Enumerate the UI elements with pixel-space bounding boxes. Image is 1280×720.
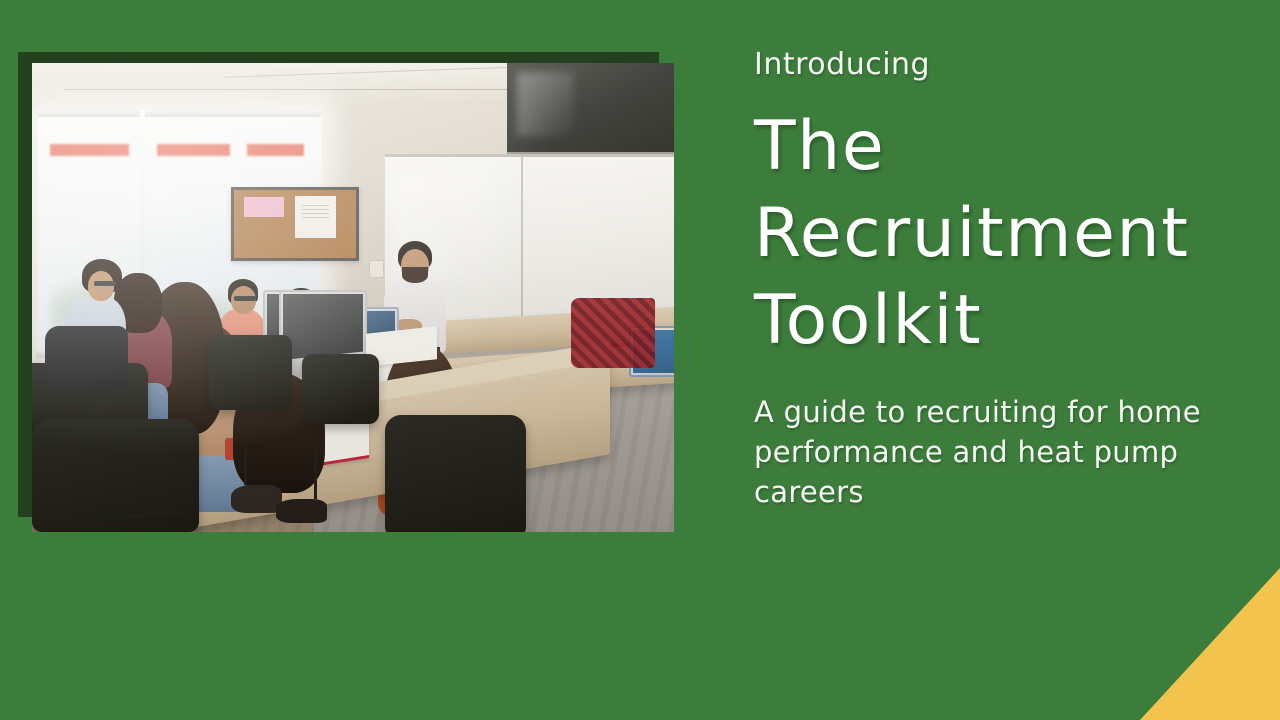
photo-instructor-beard (402, 267, 428, 283)
photo-chair-leg (314, 448, 317, 500)
page-title: The Recruitment Toolkit (754, 103, 1254, 364)
text-column: Introducing The Recruitment Toolkit A gu… (754, 48, 1254, 512)
photo-window-red-band (157, 144, 230, 156)
photo-person-paleblue-head (88, 271, 114, 301)
slide-canvas: Introducing The Recruitment Toolkit A gu… (0, 0, 1280, 720)
subtitle-text: A guide to recruiting for home performan… (754, 392, 1254, 512)
photo-chair-mid (302, 354, 379, 424)
photo-light-switch (369, 260, 384, 278)
photo-person-paleblue-glasses (94, 281, 116, 286)
photo-window-head (38, 110, 320, 117)
photo-wall-monitor (507, 63, 674, 156)
photo-bulletin-board (231, 187, 359, 261)
photo-shoe-left (231, 485, 282, 513)
eyebrow-label: Introducing (754, 48, 1254, 81)
photo-person-salmon-glasses (234, 296, 256, 301)
photo-window-red-band (247, 144, 303, 156)
photo-pinned-white-flyer (295, 196, 336, 238)
photo-chair-right-front (385, 415, 526, 532)
classroom-photo (32, 63, 674, 532)
photo-pinned-pink-note (244, 197, 284, 217)
photo-monitor-glare (517, 72, 574, 136)
photo-window-red-band (50, 144, 129, 156)
photo-plaid-shirt (571, 298, 654, 368)
photo-backpack (45, 326, 128, 392)
photo-shoe-right (276, 499, 327, 522)
photo-laptop-front-screen (283, 294, 362, 360)
photo-whiteboard-seam (521, 157, 523, 340)
corner-accent-triangle (1140, 568, 1280, 720)
photo-chair-leg (244, 438, 247, 485)
photo-chair-mid-left (209, 335, 292, 410)
